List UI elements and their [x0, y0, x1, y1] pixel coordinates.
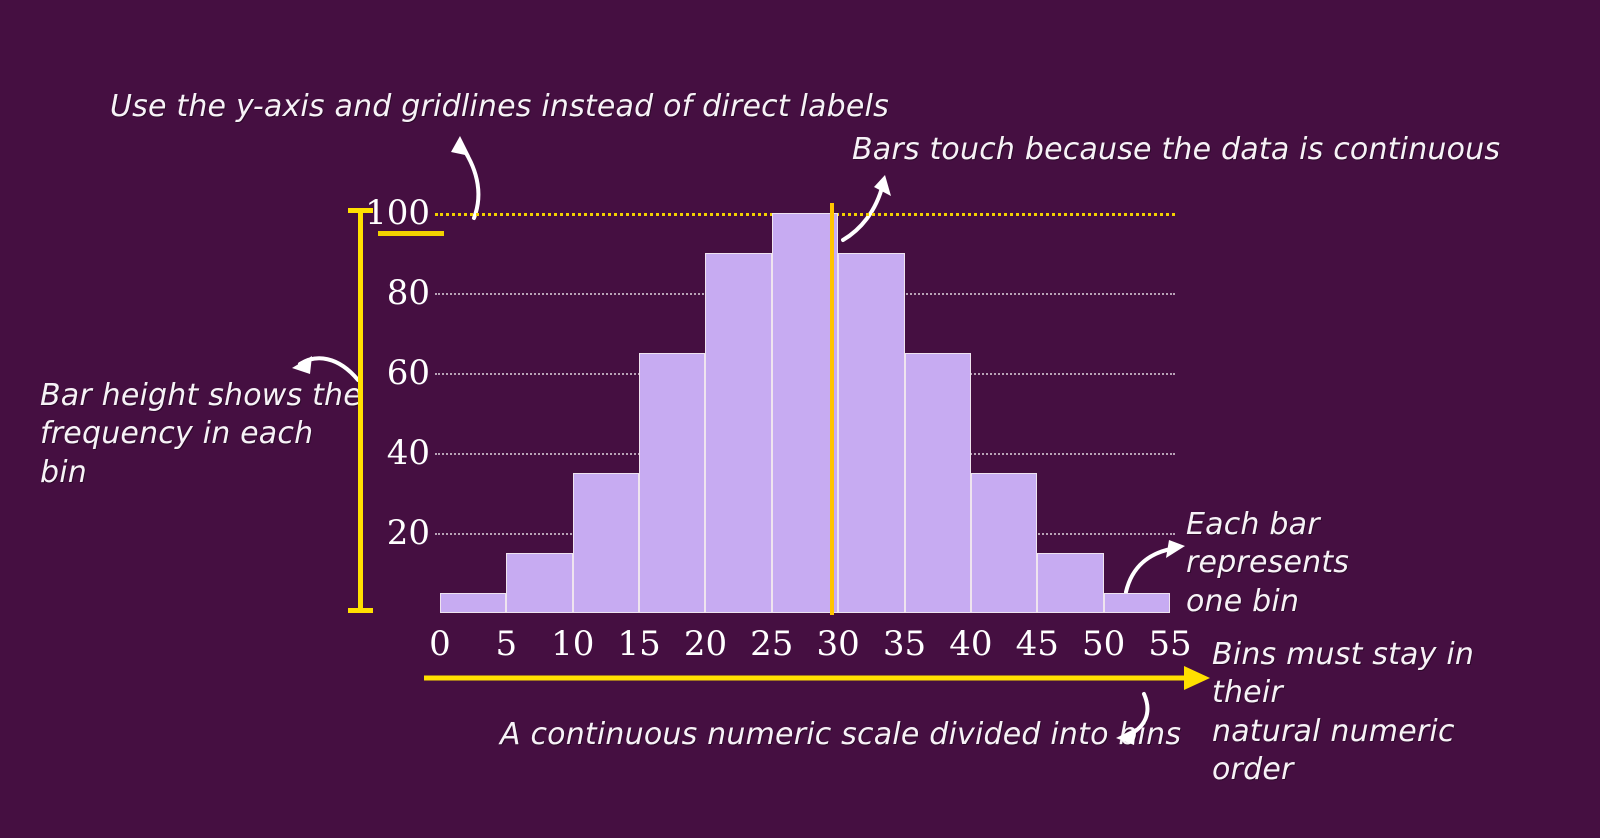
x-tick-15: 15 — [617, 624, 660, 664]
annotation-continuous-scale: A continuous numeric scale divided into … — [500, 716, 1181, 754]
x-tick-0: 0 — [429, 624, 451, 664]
histogram-bar — [971, 473, 1037, 613]
histogram-bars — [440, 213, 1170, 613]
y-tick-20: 20 — [387, 513, 430, 553]
bracket-stem — [358, 208, 363, 613]
arrow-to-y-axis-icon — [440, 130, 500, 220]
histogram-bar — [905, 353, 971, 613]
histogram-bar — [1104, 593, 1170, 613]
histogram-bar — [506, 553, 572, 613]
y-axis-labels: 100 80 60 40 20 — [370, 213, 430, 613]
x-tick-35: 35 — [883, 624, 926, 664]
histogram-bar — [639, 353, 705, 613]
y-tick-80: 80 — [387, 273, 430, 313]
y-tick-60: 60 — [387, 353, 430, 393]
x-tick-10: 10 — [551, 624, 594, 664]
x-tick-5: 5 — [496, 624, 518, 664]
x-tick-55: 55 — [1148, 624, 1191, 664]
annotation-y-axis-gridlines: Use the y-axis and gridlines instead of … — [110, 88, 889, 126]
x-tick-20: 20 — [684, 624, 727, 664]
annotation-numeric-order: Bins must stay in their natural numeric … — [1212, 636, 1532, 790]
histogram-bar — [705, 253, 771, 613]
x-tick-25: 25 — [750, 624, 793, 664]
y-tick-40: 40 — [387, 433, 430, 473]
y-axis-range-bracket — [354, 208, 366, 613]
x-tick-45: 45 — [1016, 624, 1059, 664]
y-tick-100-underline — [378, 231, 444, 236]
annotation-bar-height: Bar height shows the frequency in each b… — [40, 377, 370, 492]
x-tick-50: 50 — [1082, 624, 1125, 664]
annotation-bars-touch: Bars touch because the data is continuou… — [852, 131, 1500, 169]
histogram-bar — [573, 473, 639, 613]
histogram-bar — [440, 593, 506, 613]
x-axis-direction-arrow-icon — [424, 668, 1210, 688]
histogram-bar — [772, 213, 838, 613]
histogram-bar — [1037, 553, 1103, 613]
bars-touch-marker-line — [830, 203, 834, 615]
x-tick-40: 40 — [949, 624, 992, 664]
x-axis-labels: 0510152025303540455055 — [440, 624, 1170, 668]
histogram-infographic: Use the y-axis and gridlines instead of … — [0, 0, 1600, 838]
plot-area — [440, 213, 1170, 613]
x-tick-30: 30 — [817, 624, 860, 664]
histogram-bar — [838, 253, 904, 613]
annotation-each-bar-one-bin: Each bar represents one bin — [1186, 506, 1476, 621]
y-tick-100: 100 — [365, 193, 430, 233]
